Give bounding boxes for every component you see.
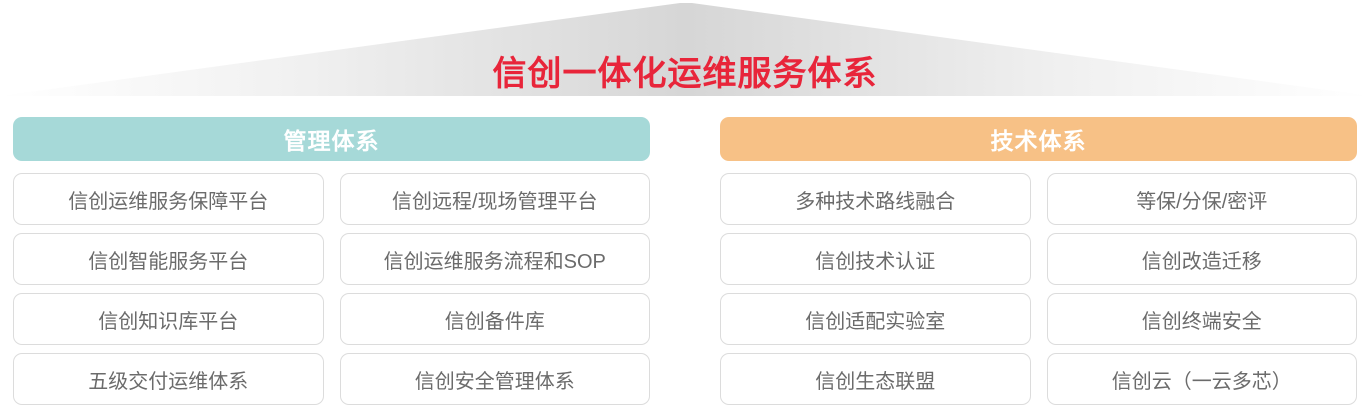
- page-title: 信创一体化运维服务体系: [0, 52, 1370, 96]
- card-grid-technology: 多种技术路线融合 等保/分保/密评 信创技术认证 信创改造迁移 信创适配实验室 …: [720, 173, 1357, 412]
- card-item[interactable]: 信创远程/现场管理平台: [340, 173, 651, 225]
- card-item[interactable]: 信创改造迁移: [1047, 233, 1358, 285]
- group-header-technology: 技术体系: [720, 117, 1357, 161]
- card-item[interactable]: 信创安全管理体系: [340, 353, 651, 405]
- card-item[interactable]: 信创适配实验室: [720, 293, 1031, 345]
- card-item[interactable]: 信创云（一云多芯）: [1047, 353, 1358, 405]
- group-management: 管理体系 信创运维服务保障平台 信创远程/现场管理平台 信创智能服务平台 信创运…: [13, 117, 650, 412]
- card-item[interactable]: 多种技术路线融合: [720, 173, 1031, 225]
- systems-container: 管理体系 信创运维服务保障平台 信创远程/现场管理平台 信创智能服务平台 信创运…: [0, 117, 1370, 412]
- card-item[interactable]: 信创运维服务保障平台: [13, 173, 324, 225]
- group-header-management: 管理体系: [13, 117, 650, 161]
- card-item[interactable]: 五级交付运维体系: [13, 353, 324, 405]
- card-item[interactable]: 信创技术认证: [720, 233, 1031, 285]
- group-technology: 技术体系 多种技术路线融合 等保/分保/密评 信创技术认证 信创改造迁移 信创适…: [720, 117, 1357, 412]
- card-grid-management: 信创运维服务保障平台 信创远程/现场管理平台 信创智能服务平台 信创运维服务流程…: [13, 173, 650, 412]
- card-item[interactable]: 等保/分保/密评: [1047, 173, 1358, 225]
- card-item[interactable]: 信创生态联盟: [720, 353, 1031, 405]
- card-item[interactable]: 信创知识库平台: [13, 293, 324, 345]
- card-item[interactable]: 信创备件库: [340, 293, 651, 345]
- card-item[interactable]: 信创终端安全: [1047, 293, 1358, 345]
- card-item[interactable]: 信创智能服务平台: [13, 233, 324, 285]
- card-item[interactable]: 信创运维服务流程和SOP: [340, 233, 651, 285]
